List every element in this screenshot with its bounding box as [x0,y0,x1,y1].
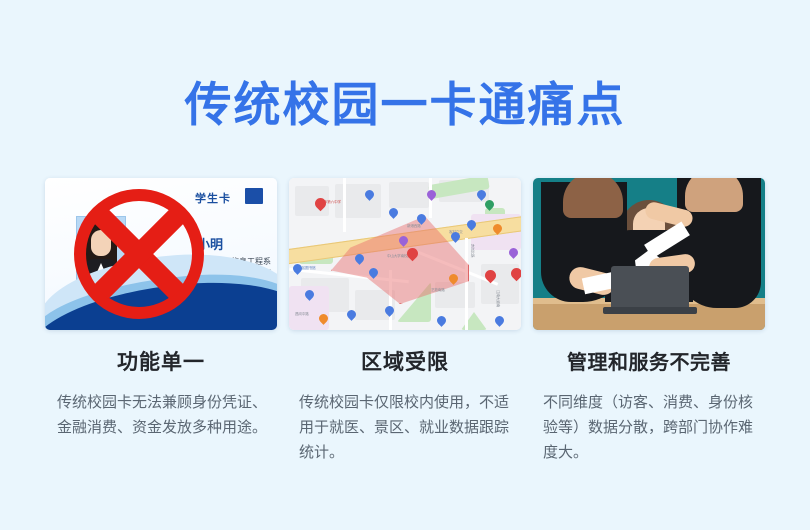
map-street [465,238,468,330]
map-label: 新港西路 [407,224,421,229]
thumbnail-campus-map[interactable]: 广州市第六中学 海珠区图书馆 中山大学南校区 客村立交 赤岗北路 新港西路 江南… [289,178,521,330]
right-person-head [685,178,743,212]
map-pin-icon[interactable] [435,314,448,327]
map-label: 江南大道南 [495,290,500,307]
caption-body-area-restricted: 传统校园卡仅限校内使用，不适用于就医、景区、就业数据跟踪统计。 [289,390,521,465]
ban-cross-icon [69,184,209,324]
laptop-base-shape [603,307,697,314]
map-street [343,178,346,232]
pain-point-card-function-single: 学生卡 小明 23级信息工程系 软件技术2班 [45,178,277,465]
id-card-chip-icon [245,188,263,204]
thumbnail-office-illustration[interactable] [533,178,765,330]
caption-body-function-single: 传统校园卡无法兼顾身份凭证、金融消费、资金发放多种用途。 [45,390,277,440]
map-artwork: 广州市第六中学 海珠区图书馆 中山大学南校区 客村立交 赤岗北路 新港西路 江南… [289,178,521,330]
caption-title-area-restricted: 区域受限 [289,350,521,376]
map-pin-icon[interactable] [493,314,506,327]
pain-point-card-management-service: 管理和服务不完善 不同维度（访客、消费、身份核验等）数据分散，跨部门协作难度大。 [533,178,765,465]
pain-point-card-area-restricted: 广州市第六中学 海珠区图书馆 中山大学南校区 客村立交 赤岗北路 新港西路 江南… [289,178,521,465]
map-block [335,184,381,218]
caption-title-management-service: 管理和服务不完善 [533,350,765,376]
slide-root: 传统校园一卡通痛点 学生卡 小明 23级信息工程系 [0,0,810,530]
student-id-card-artwork: 学生卡 小明 23级信息工程系 软件技术2班 [45,178,277,330]
map-label: 昌岗中路 [295,312,309,317]
pain-point-columns: 学生卡 小明 23级信息工程系 软件技术2班 [45,178,765,465]
thumbnail-student-id-card[interactable]: 学生卡 小明 23级信息工程系 软件技术2班 [45,178,277,330]
map-label: 赤岗北路 [469,244,474,258]
map-pin-icon[interactable] [387,206,400,219]
map-label: 艺苑南路 [431,288,445,293]
caption-title-function-single: 功能单一 [45,350,277,376]
laptop-screen-shape [611,266,689,308]
office-illustration-artwork [533,178,765,330]
map-block [389,182,429,208]
caption-body-management-service: 不同维度（访客、消费、身份核验等）数据分散，跨部门协作难度大。 [533,390,765,465]
page-title: 传统校园一卡通痛点 [0,76,810,134]
left-person-head [563,178,623,218]
map-pin-icon[interactable] [291,262,304,275]
